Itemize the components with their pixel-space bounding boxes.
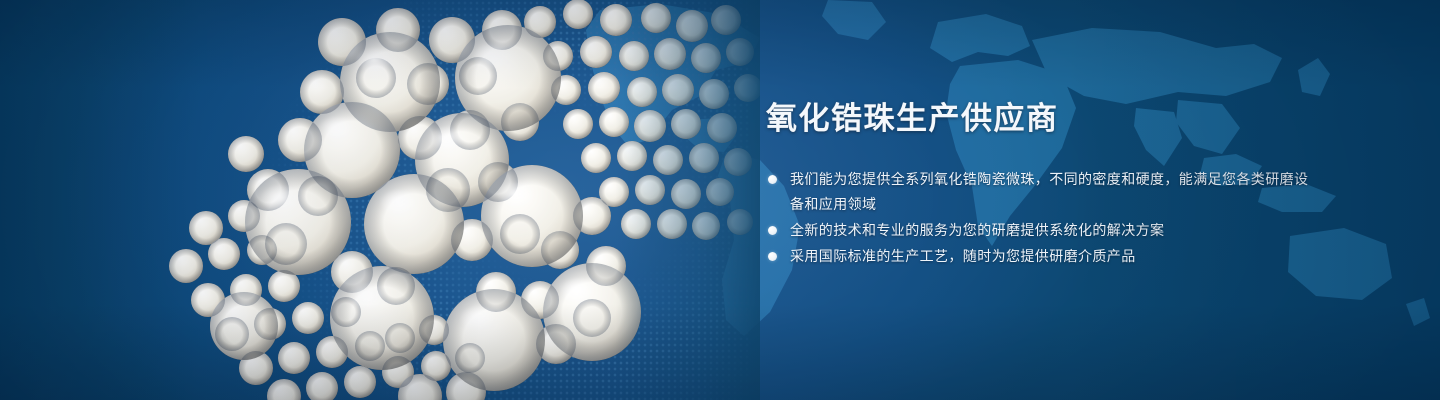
- hero-banner: 氧化锆珠生产供应商 我们能为您提供全系列氧化锆陶瓷微珠，不同的密度和硬度，能满足…: [0, 0, 1440, 400]
- banner-vignette: [0, 0, 1440, 400]
